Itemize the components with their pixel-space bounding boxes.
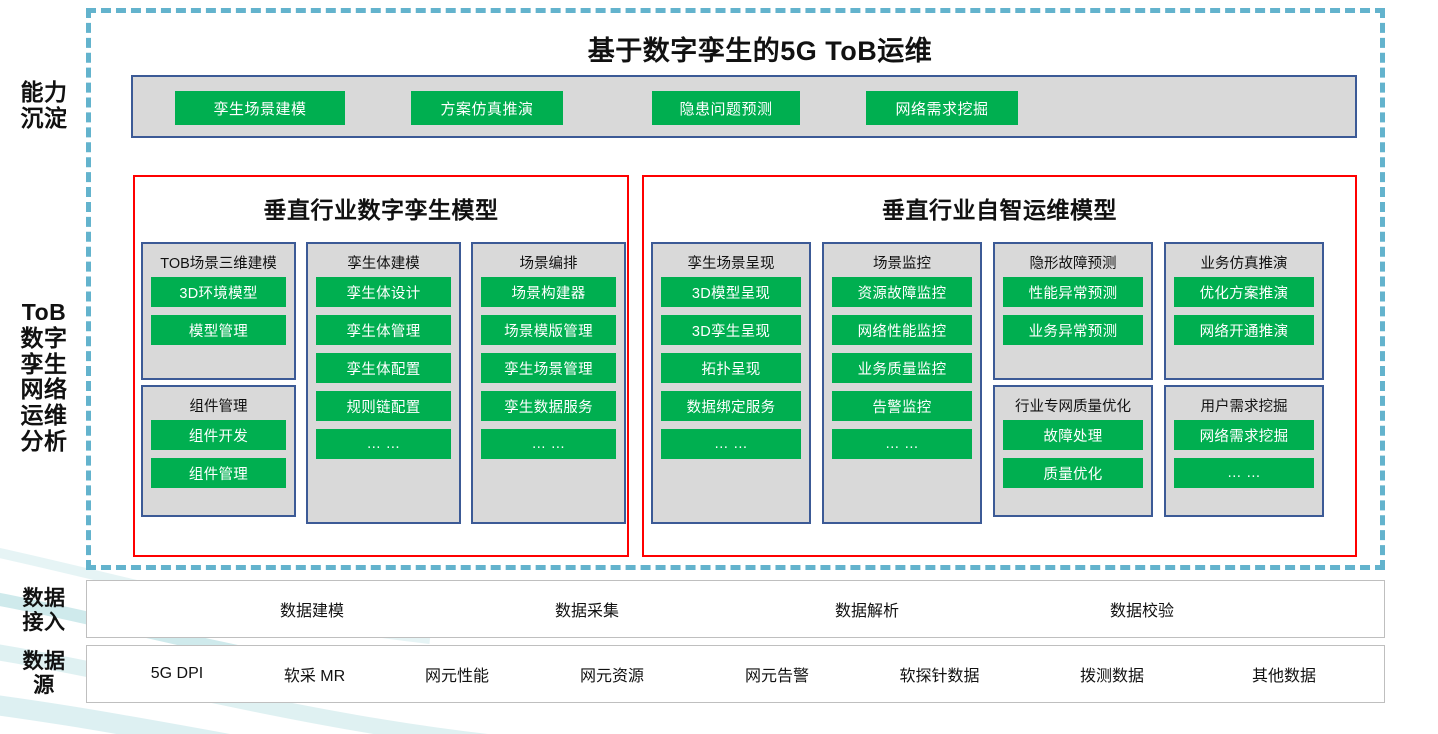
module-card: 场景监控资源故障监控网络性能监控业务质量监控告警监控… … [822,242,982,524]
module-item-chip[interactable]: 模型管理 [151,315,286,345]
module-item-chip[interactable]: 性能异常预测 [1003,277,1143,307]
module-card-items: 3D环境模型模型管理 [151,277,286,353]
module-item-chip[interactable]: 组件开发 [151,420,286,450]
module-card-items: 3D模型呈现3D孪生呈现拓扑呈现数据绑定服务… … [661,277,801,467]
module-item-chip[interactable]: 场景构建器 [481,277,616,307]
data-source-cell: 网元性能 [377,646,537,702]
data-source-cell: 5G DPI [107,646,247,702]
data-source-cell: 网元资源 [532,646,692,702]
data-access-cell: 数据采集 [462,581,712,637]
module-card: 行业专网质量优化故障处理质量优化 [993,385,1153,517]
capability-chip[interactable]: 网络需求挖掘 [866,91,1018,125]
data-source-cell: 网元告警 [697,646,857,702]
module-item-chip[interactable]: 3D孪生呈现 [661,315,801,345]
data-access-cell: 数据校验 [1017,581,1267,637]
module-item-chip[interactable]: 孪生数据服务 [481,391,616,421]
module-item-chip[interactable]: 孪生场景管理 [481,353,616,383]
module-card-title: 组件管理 [143,395,294,416]
module-card-title: 用户需求挖掘 [1166,395,1322,416]
module-card: TOB场景三维建模3D环境模型模型管理 [141,242,296,380]
data-source-row: 5G DPI软采 MR网元性能网元资源网元告警软探针数据拨测数据其他数据 [86,645,1385,703]
module-item-chip[interactable]: 3D环境模型 [151,277,286,307]
data-access-cell: 数据解析 [742,581,992,637]
module-item-chip[interactable]: … … [1174,458,1314,488]
module-card: 场景编排场景构建器场景模版管理孪生场景管理孪生数据服务… … [471,242,626,524]
module-card-items: 资源故障监控网络性能监控业务质量监控告警监控… … [832,277,972,467]
module-card-items: 性能异常预测业务异常预测 [1003,277,1143,353]
capability-chip[interactable]: 孪生场景建模 [175,91,345,125]
capability-chip[interactable]: 方案仿真推演 [411,91,563,125]
module-item-chip[interactable]: 组件管理 [151,458,286,488]
module-item-chip[interactable]: … … [832,429,972,459]
data-source-cell: 拨测数据 [1027,646,1197,702]
module-item-chip[interactable]: 告警监控 [832,391,972,421]
module-item-chip[interactable]: 规则链配置 [316,391,451,421]
module-card-title: 孪生场景呈现 [653,252,809,273]
module-item-chip[interactable]: 网络需求挖掘 [1174,420,1314,450]
module-item-chip[interactable]: … … [661,429,801,459]
module-card-items: 优化方案推演网络开通推演 [1174,277,1314,353]
module-card: 用户需求挖掘网络需求挖掘… … [1164,385,1324,517]
module-item-chip[interactable]: 资源故障监控 [832,277,972,307]
module-card: 组件管理组件开发组件管理 [141,385,296,517]
page-title: 基于数字孪生的5G ToB运维 [140,29,1380,68]
module-card-title: 业务仿真推演 [1166,252,1322,273]
module-card-title: 场景监控 [824,252,980,273]
data-source-cell: 软探针数据 [852,646,1027,702]
module-card-items: 故障处理质量优化 [1003,420,1143,496]
module-card: 隐形故障预测性能异常预测业务异常预测 [993,242,1153,380]
module-item-chip[interactable]: 优化方案推演 [1174,277,1314,307]
row-label-capability: 能力 沉淀 [8,80,80,132]
module-item-chip[interactable]: 孪生体配置 [316,353,451,383]
data-access-cell: 数据建模 [187,581,437,637]
module-card-title: TOB场景三维建模 [143,252,294,273]
row-label-tob-analysis: ToB 数字 孪生 网络 运维 分析 [8,300,80,455]
module-item-chip[interactable]: 故障处理 [1003,420,1143,450]
model-box-title: 垂直行业自智运维模型 [644,191,1355,225]
module-item-chip[interactable]: 网络开通推演 [1174,315,1314,345]
data-access-row: 数据建模数据采集数据解析数据校验 [86,580,1385,638]
data-source-cell: 其他数据 [1199,646,1369,702]
module-item-chip[interactable]: 场景模版管理 [481,315,616,345]
module-card: 孪生场景呈现3D模型呈现3D孪生呈现拓扑呈现数据绑定服务… … [651,242,811,524]
module-card-items: 孪生体设计孪生体管理孪生体配置规则链配置… … [316,277,451,467]
module-card: 孪生体建模孪生体设计孪生体管理孪生体配置规则链配置… … [306,242,461,524]
module-item-chip[interactable]: 业务质量监控 [832,353,972,383]
module-card-items: 组件开发组件管理 [151,420,286,496]
model-box: 垂直行业数字孪生模型TOB场景三维建模3D环境模型模型管理组件管理组件开发组件管… [133,175,629,557]
module-card: 业务仿真推演优化方案推演网络开通推演 [1164,242,1324,380]
capability-strip: 孪生场景建模方案仿真推演隐患问题预测网络需求挖掘 [131,75,1357,138]
module-item-chip[interactable]: 网络性能监控 [832,315,972,345]
module-item-chip[interactable]: 业务异常预测 [1003,315,1143,345]
capability-chip[interactable]: 隐患问题预测 [652,91,800,125]
module-item-chip[interactable]: 3D模型呈现 [661,277,801,307]
row-label-data-access: 数据 接入 [8,587,80,634]
module-card-title: 场景编排 [473,252,624,273]
model-box: 垂直行业自智运维模型孪生场景呈现3D模型呈现3D孪生呈现拓扑呈现数据绑定服务… … [642,175,1357,557]
row-label-data-source: 数据 源 [8,650,80,697]
data-source-cell: 软采 MR [237,646,392,702]
module-card-items: 场景构建器场景模版管理孪生场景管理孪生数据服务… … [481,277,616,467]
module-item-chip[interactable]: … … [316,429,451,459]
module-item-chip[interactable]: 孪生体管理 [316,315,451,345]
module-card-items: 网络需求挖掘… … [1174,420,1314,496]
module-item-chip[interactable]: 质量优化 [1003,458,1143,488]
module-item-chip[interactable]: 孪生体设计 [316,277,451,307]
module-item-chip[interactable]: … … [481,429,616,459]
decorative-swoosh-watermark [0,544,580,734]
diagram-canvas: 能力 沉淀 ToB 数字 孪生 网络 运维 分析 数据 接入 数据 源 基于数字… [0,0,1438,734]
model-box-title: 垂直行业数字孪生模型 [135,191,627,225]
module-card-title: 行业专网质量优化 [995,395,1151,416]
module-item-chip[interactable]: 数据绑定服务 [661,391,801,421]
module-item-chip[interactable]: 拓扑呈现 [661,353,801,383]
module-card-title: 孪生体建模 [308,252,459,273]
module-card-title: 隐形故障预测 [995,252,1151,273]
